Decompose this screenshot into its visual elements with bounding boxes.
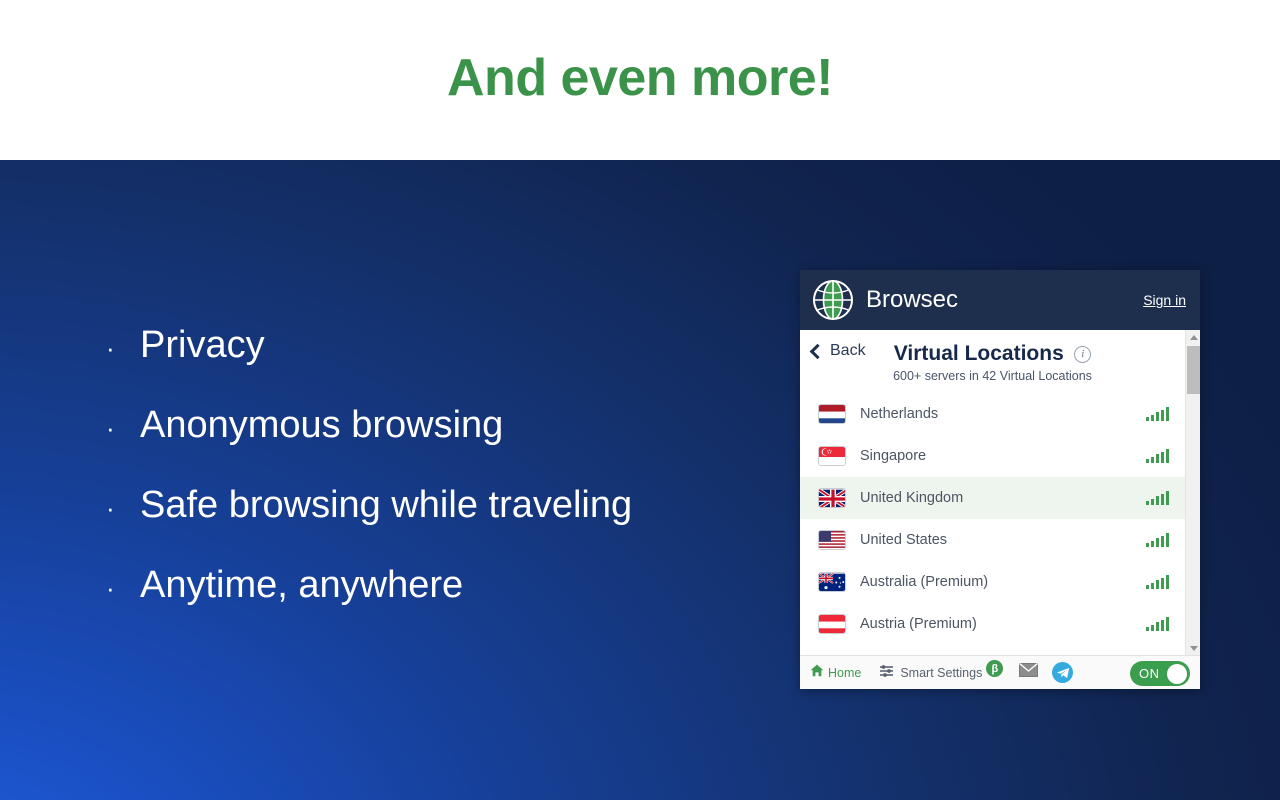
- location-name: Singapore: [860, 448, 1146, 464]
- list-item: · Privacy: [106, 324, 746, 404]
- bullet-text: Safe browsing while traveling: [140, 484, 632, 527]
- home-button[interactable]: Home: [810, 664, 861, 682]
- locations-list: Netherlands: [800, 393, 1185, 645]
- bullet-text: Anytime, anywhere: [140, 564, 463, 607]
- back-button[interactable]: Back: [812, 342, 866, 360]
- slide-title: And even more!: [0, 48, 1280, 108]
- location-name: Australia (Premium): [860, 574, 1146, 590]
- list-item[interactable]: Netherlands: [800, 393, 1185, 435]
- info-icon[interactable]: i: [1074, 346, 1091, 363]
- bullet-list: · Privacy · Anonymous browsing · Safe br…: [106, 324, 746, 644]
- triangle-up-icon[interactable]: [1186, 330, 1200, 344]
- bullet-text: Privacy: [140, 324, 265, 367]
- flag-united-states-icon: [818, 530, 846, 550]
- telegram-icon[interactable]: [1052, 662, 1073, 683]
- signal-strength-icon: [1146, 533, 1169, 547]
- toggle-knob: [1167, 664, 1187, 684]
- toggle-label: ON: [1139, 666, 1160, 681]
- flag-singapore-icon: [818, 446, 846, 466]
- globe-icon: [810, 277, 856, 323]
- location-name: Austria (Premium): [860, 616, 1146, 632]
- locations-subtitle: 600+ servers in 42 Virtual Locations: [800, 369, 1185, 383]
- location-name: United States: [860, 532, 1146, 548]
- list-item[interactable]: United Kingdom: [800, 477, 1185, 519]
- brand-name: Browsec: [866, 286, 1143, 314]
- smart-settings-button[interactable]: Smart Settings: [879, 664, 982, 682]
- house-icon: [810, 664, 824, 682]
- popup-header: Browsec Sign in: [800, 270, 1200, 330]
- location-name: United Kingdom: [860, 490, 1146, 506]
- chevron-left-icon: [810, 343, 826, 359]
- vpn-toggle[interactable]: ON: [1130, 661, 1190, 686]
- list-item[interactable]: Australia (Premium): [800, 561, 1185, 603]
- locations-header: Back Virtual Locations i 600+ servers in…: [800, 330, 1185, 388]
- home-label: Home: [828, 666, 861, 680]
- page-title: Virtual Locations: [894, 342, 1064, 366]
- location-name: Netherlands: [860, 406, 1146, 422]
- sliders-icon: [879, 664, 894, 682]
- flag-australia-icon: [818, 572, 846, 592]
- bullet-marker: ·: [106, 415, 140, 441]
- title-band: And even more!: [0, 0, 1280, 160]
- locations-panel: Back Virtual Locations i 600+ servers in…: [800, 330, 1200, 655]
- flag-netherlands-icon: [818, 404, 846, 424]
- list-item[interactable]: Singapore: [800, 435, 1185, 477]
- popup-footer: Home Smart Settings β: [800, 655, 1200, 689]
- list-item: · Anytime, anywhere: [106, 564, 746, 644]
- envelope-icon[interactable]: [1019, 663, 1038, 682]
- browsec-extension-popup: Browsec Sign in Back Virtual Locations i…: [800, 270, 1200, 689]
- back-label: Back: [830, 342, 866, 360]
- signal-strength-icon: [1146, 617, 1169, 631]
- signal-strength-icon: [1146, 575, 1169, 589]
- sign-in-link[interactable]: Sign in: [1143, 292, 1186, 308]
- list-item: · Anonymous browsing: [106, 404, 746, 484]
- scrollbar-thumb[interactable]: [1187, 346, 1200, 394]
- bullet-marker: ·: [106, 575, 140, 601]
- locations-scrollbar[interactable]: [1185, 330, 1200, 655]
- triangle-down-icon[interactable]: [1186, 641, 1200, 655]
- smart-settings-label: Smart Settings: [900, 666, 982, 680]
- flag-united-kingdom-icon: [818, 488, 846, 508]
- slide-canvas: And even more! · Privacy · Anonymous bro…: [0, 0, 1280, 800]
- bullet-marker: ·: [106, 335, 140, 361]
- locations-body: Back Virtual Locations i 600+ servers in…: [800, 330, 1185, 655]
- bullet-text: Anonymous browsing: [140, 404, 503, 447]
- list-item[interactable]: United States: [800, 519, 1185, 561]
- list-item: · Safe browsing while traveling: [106, 484, 746, 564]
- flag-austria-icon: [818, 614, 846, 634]
- signal-strength-icon: [1146, 491, 1169, 505]
- signal-strength-icon: [1146, 407, 1169, 421]
- signal-strength-icon: [1146, 449, 1169, 463]
- list-item[interactable]: Austria (Premium): [800, 603, 1185, 645]
- beta-badge[interactable]: β: [986, 660, 1003, 677]
- bullet-marker: ·: [106, 495, 140, 521]
